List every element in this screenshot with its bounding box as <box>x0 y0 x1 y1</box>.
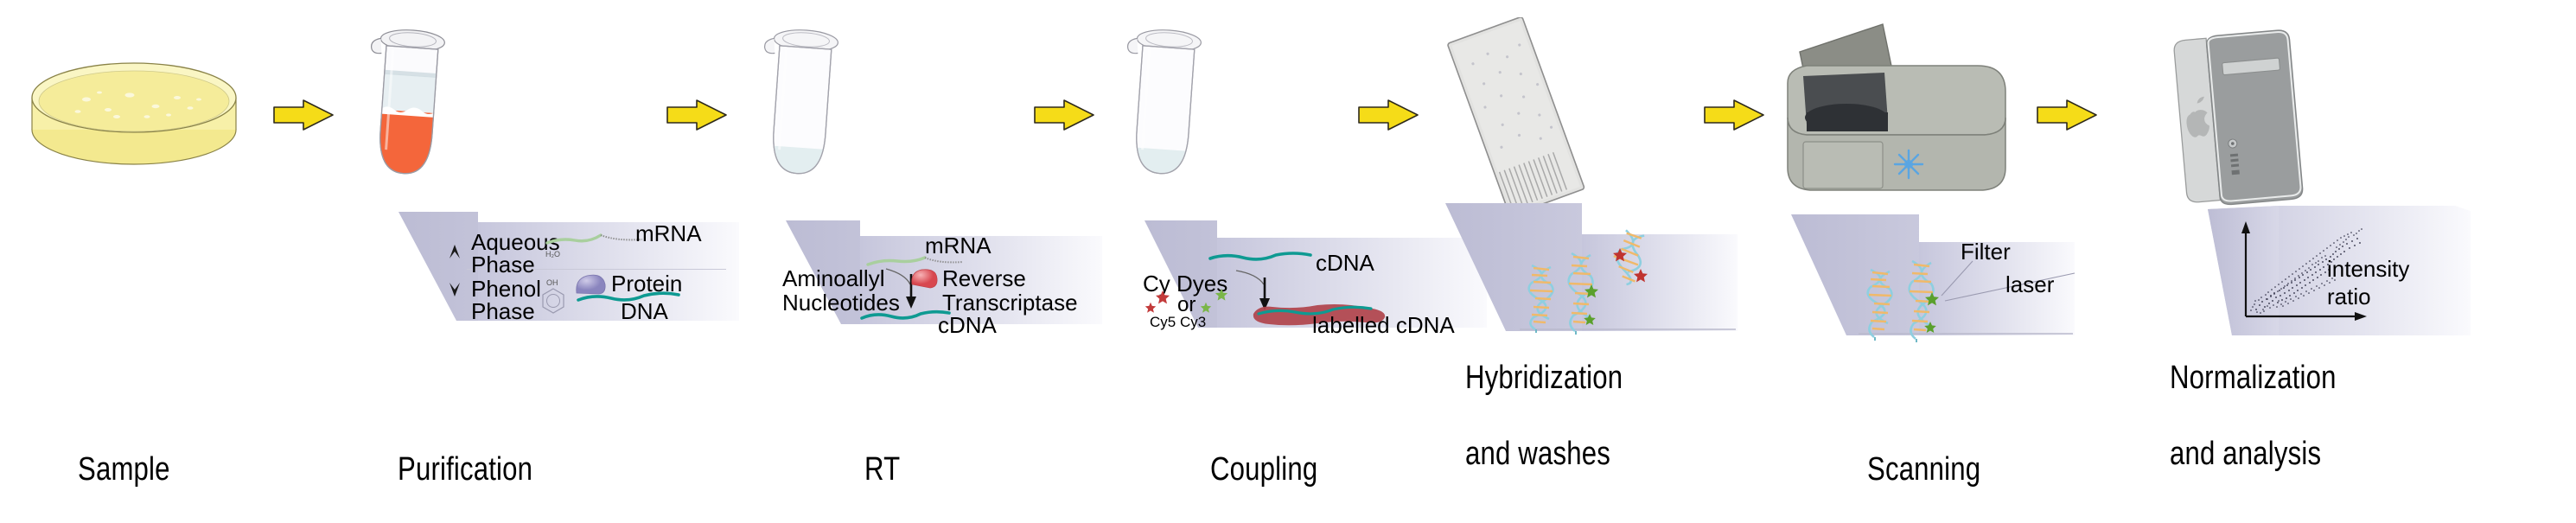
scanning-detail-panel: Filter laser <box>1789 214 2135 340</box>
purification-detail-panel: Aqueous Phase H₂O mRNA Phenol Phase OH P… <box>376 212 739 328</box>
cy3-star-icon-2 <box>1200 302 1212 314</box>
mrna-strand-icon <box>545 231 645 250</box>
cy5-star-icon-2 <box>1145 302 1157 314</box>
stage-purification: Aqueous Phase H₂O mRNA Phenol Phase OH P… <box>346 0 743 523</box>
stage-label-hybridization: Hybridization and washes <box>1465 321 1623 511</box>
chevron-down-icon <box>448 281 462 298</box>
cy5-cy3-label: Cy5 Cy3 <box>1150 314 1206 331</box>
rt-detail-panel: mRNA Aminoallyl Nucleotides Reverse Tran… <box>765 220 1102 333</box>
aminoallyl-label-line1: Aminoallyl <box>782 265 885 292</box>
arrow-purification-to-rt <box>666 97 728 135</box>
mrna-label: mRNA <box>635 220 702 247</box>
hybridization-detail-panel <box>1444 203 1789 337</box>
stage-label-hybridization-line1: Hybridization <box>1465 359 1623 397</box>
helix-probe-unbound-scan <box>1865 268 1895 341</box>
scanner-lamp-icon <box>1895 150 1922 178</box>
arrow-sample-to-purification <box>272 97 335 135</box>
cdna-label-rt: cDNA <box>938 312 997 339</box>
arrow-hybridization-to-scanning <box>1703 97 1765 135</box>
helix-free-labelled-cy5 <box>1610 234 1670 291</box>
computer-tower-icon <box>2161 16 2343 219</box>
microarray-slide-icon <box>1426 17 1608 220</box>
stage-label-normalization-line2: and analysis <box>2170 435 2337 473</box>
stage-hybridization: Hybridization and washes <box>1418 0 1815 523</box>
reverse-transcriptase-label-line1: Reverse <box>942 265 1026 292</box>
microcentrifuge-tube-icon <box>748 22 860 212</box>
stage-label-coupling: Coupling <box>1210 450 1317 488</box>
laser-label: laser <box>2005 271 2054 298</box>
stage-scanning: Filter laser Scanning <box>1772 0 2161 523</box>
water-formula-label: H₂O <box>545 250 560 258</box>
aqueous-phase-label-line2: Phase <box>471 252 535 278</box>
stage-label-normalization-line1: Normalization <box>2170 359 2337 397</box>
cdna-label-coupling: cDNA <box>1316 250 1374 277</box>
stage-normalization: intensity ratio Normalization and analys… <box>2118 0 2576 523</box>
microcentrifuge-tube-icon-coupling <box>1111 22 1223 212</box>
stage-label-normalization: Normalization and analysis <box>2170 321 2337 511</box>
filter-label: Filter <box>1961 239 2011 265</box>
stage-label-purification: Purification <box>398 450 532 488</box>
intensity-label: intensity <box>2327 256 2409 283</box>
microcentrifuge-tube-phase-separation-icon <box>354 22 467 212</box>
arrow-scanning-to-normalization <box>2036 97 2098 135</box>
stage-rt: mRNA Aminoallyl Nucleotides Reverse Tran… <box>743 0 1106 523</box>
petri-dish-icon <box>26 48 242 173</box>
dna-label: DNA <box>621 298 668 325</box>
microarray-scanner-icon <box>1781 16 2031 210</box>
phenol-ring-icon <box>540 286 566 316</box>
reverse-transcriptase-enzyme-icon <box>909 267 939 290</box>
stage-label-scanning: Scanning <box>1867 450 1980 488</box>
ratio-label: ratio <box>2327 284 2371 310</box>
chevron-up-icon <box>448 243 462 260</box>
stage-label-rt: RT <box>864 450 900 488</box>
cy5-star-icon <box>1155 290 1170 305</box>
phenol-phase-label-line2: Phase <box>471 298 535 325</box>
stage-label-sample: Sample <box>78 450 170 488</box>
arrow-rt-to-coupling <box>1033 97 1095 135</box>
cdna-strand-icon-coupling <box>1208 252 1312 265</box>
arrow-coupling-to-hybridization <box>1357 97 1419 135</box>
stage-sample: Sample <box>0 0 328 523</box>
stage-label-hybridization-line2: and washes <box>1465 435 1623 473</box>
cy3-star-icon <box>1215 288 1228 302</box>
